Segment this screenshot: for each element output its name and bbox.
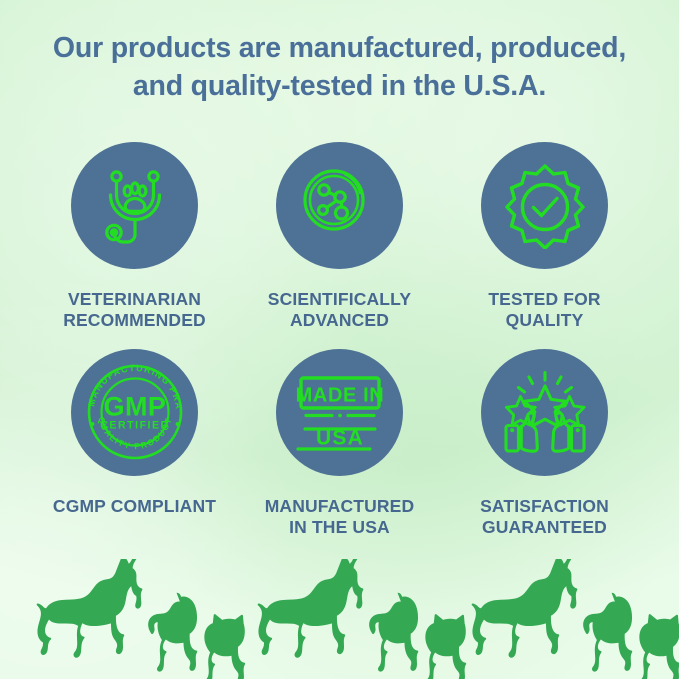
animal-group-3 xyxy=(472,559,679,679)
animal-group-2 xyxy=(258,559,466,679)
infographic-root: Our products are manufactured, produced,… xyxy=(0,0,679,679)
badge-circle xyxy=(481,349,608,476)
badge-row-2: GOOD MANUFACTURING PRACTICE QUALITY PROD… xyxy=(0,349,679,539)
badge-grid: VETERINARIAN RECOMMENDED xyxy=(0,142,679,538)
badge-circle xyxy=(71,142,198,269)
badge-circle xyxy=(481,142,608,269)
made-in-usa-stamp-icon: MADE IN USA xyxy=(292,370,388,454)
badge-label: SCIENTIFICALLY ADVANCED xyxy=(268,289,411,332)
stethoscope-paw-icon xyxy=(93,164,177,248)
badge-label: MANUFACTURED IN THE USA xyxy=(265,496,415,539)
badge-label: SATISFACTION GUARANTEED xyxy=(480,496,609,539)
rosette-checkmark-icon xyxy=(502,163,588,249)
animal-silhouette-strip xyxy=(0,559,679,679)
badge-veterinarian-recommended: VETERINARIAN RECOMMENDED xyxy=(32,142,237,332)
badge-label: CGMP COMPLIANT xyxy=(53,496,216,517)
svg-text:MADE IN: MADE IN xyxy=(295,385,384,407)
badge-circle xyxy=(276,142,403,269)
badge-circle: MADE IN USA xyxy=(276,349,403,476)
badge-tested-for-quality: TESTED FOR QUALITY xyxy=(442,142,647,332)
headline-line-1: Our products are manufactured, produced, xyxy=(53,32,626,64)
badge-label: VETERINARIAN RECOMMENDED xyxy=(63,289,206,332)
headline-line-2: and quality-tested in the U.S.A. xyxy=(0,68,679,106)
svg-text:GMP: GMP xyxy=(103,392,166,422)
page-title: Our products are manufactured, produced,… xyxy=(0,30,679,105)
svg-text:USA: USA xyxy=(316,427,364,450)
badge-satisfaction-guaranteed: SATISFACTION GUARANTEED xyxy=(442,349,647,539)
badge-label: TESTED FOR QUALITY xyxy=(488,289,600,332)
badge-circle: GOOD MANUFACTURING PRACTICE QUALITY PROD… xyxy=(71,349,198,476)
badge-row-1: VETERINARIAN RECOMMENDED xyxy=(0,142,679,332)
svg-text:CERTIFIED: CERTIFIED xyxy=(100,420,169,432)
badge-cgmp-compliant: GOOD MANUFACTURING PRACTICE QUALITY PROD… xyxy=(32,349,237,517)
animal-group-1 xyxy=(37,559,245,679)
gmp-certified-seal-icon: GOOD MANUFACTURING PRACTICE QUALITY PROD… xyxy=(79,356,191,468)
stars-thumbs-up-icon xyxy=(499,369,591,455)
badge-manufactured-in-usa: MADE IN USA MANUFACTURED IN THE USA xyxy=(237,349,442,539)
magnifier-molecule-icon xyxy=(298,164,382,248)
badge-scientifically-advanced: SCIENTIFICALLY ADVANCED xyxy=(237,142,442,332)
